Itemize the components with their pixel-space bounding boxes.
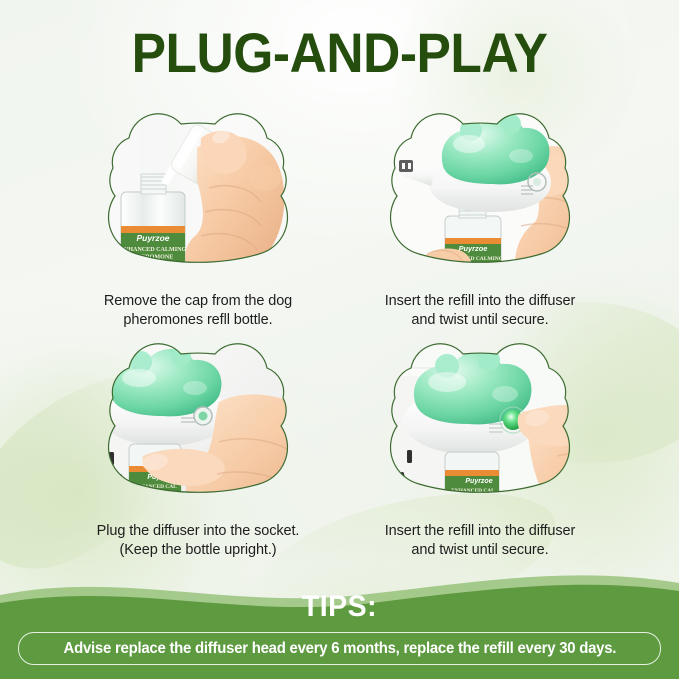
photo-frame-3: Puyrzoe ENHANCED CAL PHEROMO DIFFUSER [69,334,327,512]
tips-banner: TIPS: Advise replace the diffuser head e… [0,569,679,679]
caption-line-1: Plug the diffuser into the socket. [48,522,348,541]
steps-grid: Puyrzoe ENHANCED CALMING PHEROMONE DIFFU… [0,104,679,574]
photo-frame-2: Puyrzoe ENHANCED CALMING PHEROMONE DIFFU… [351,104,609,282]
step-panel-3: Puyrzoe ENHANCED CAL PHEROMO DIFFUSER [48,334,348,560]
caption-line-2: and twist until secure. [330,311,630,330]
caption-line-1: Insert the refill into the diffuser [330,522,630,541]
tips-text-pill: Advise replace the diffuser head every 6… [18,632,661,665]
step-panel-1: Puyrzoe ENHANCED CALMING PHEROMONE DIFFU… [48,104,348,330]
step-panel-2: Puyrzoe ENHANCED CALMING PHEROMONE DIFFU… [330,104,630,330]
step-caption-1: Remove the cap from the dog pheromones r… [48,292,348,330]
tips-content: TIPS: Advise replace the diffuser head e… [0,591,679,665]
tips-heading: TIPS: [17,591,662,623]
infographic-page: PLUG-AND-PLAY [0,0,679,679]
caption-line-2: (Keep the bottle upright.) [48,541,348,560]
photo-frame-4: Puyrzoe ENHANCED CAL PHEROMONE DIFFUSER … [351,334,609,512]
caption-line-1: Insert the refill into the diffuser [330,292,630,311]
caption-line-2: and twist until secure. [330,541,630,560]
step-caption-4: Insert the refill into the diffuser and … [330,522,630,560]
bear-frame-outline-2 [351,104,609,282]
caption-line-2: pheromones refll bottle. [48,311,348,330]
caption-line-1: Remove the cap from the dog [48,292,348,311]
step-panel-4: Puyrzoe ENHANCED CAL PHEROMONE DIFFUSER … [330,334,630,560]
step-caption-2: Insert the refill into the diffuser and … [330,292,630,330]
photo-frame-1: Puyrzoe ENHANCED CALMING PHEROMONE DIFFU… [69,104,327,282]
step-caption-3: Plug the diffuser into the socket. (Keep… [48,522,348,560]
bear-frame-outline-4 [351,334,609,512]
bear-frame-outline-3 [69,334,327,512]
bear-frame-outline-1 [69,104,327,282]
page-title: PLUG-AND-PLAY [27,22,652,84]
tips-text: Advise replace the diffuser head every 6… [63,640,616,658]
